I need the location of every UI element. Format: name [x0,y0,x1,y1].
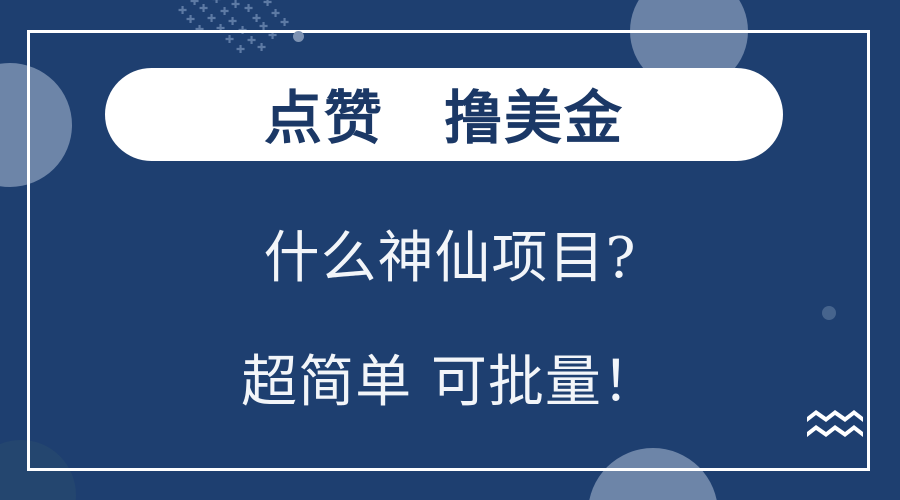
plus-particle-icon: ✚ [271,8,280,19]
headline-pill: 点赞 撸美金 [105,68,783,161]
subheadline-text: 什么神仙项目? [0,213,900,294]
plus-particle-icon: ✚ [186,14,195,25]
plus-particle-icon: ✚ [207,13,216,24]
plus-particle-icon: ✚ [190,0,199,7]
plus-particle-icon: ✚ [280,17,289,28]
plus-particle-icon: ✚ [228,16,237,27]
plus-particle-icon: ✚ [231,0,240,10]
tagline-text: 超简单 可批量！ [0,337,900,418]
promo-poster: ✚✚✚✚✚✚✚✚✚✚✚✚✚✚✚✚✚✚✚✚✚✚✚ 点赞 撸美金 什么神仙项目? 超… [0,0,900,500]
headline-text: 点赞 撸美金 [264,71,624,155]
